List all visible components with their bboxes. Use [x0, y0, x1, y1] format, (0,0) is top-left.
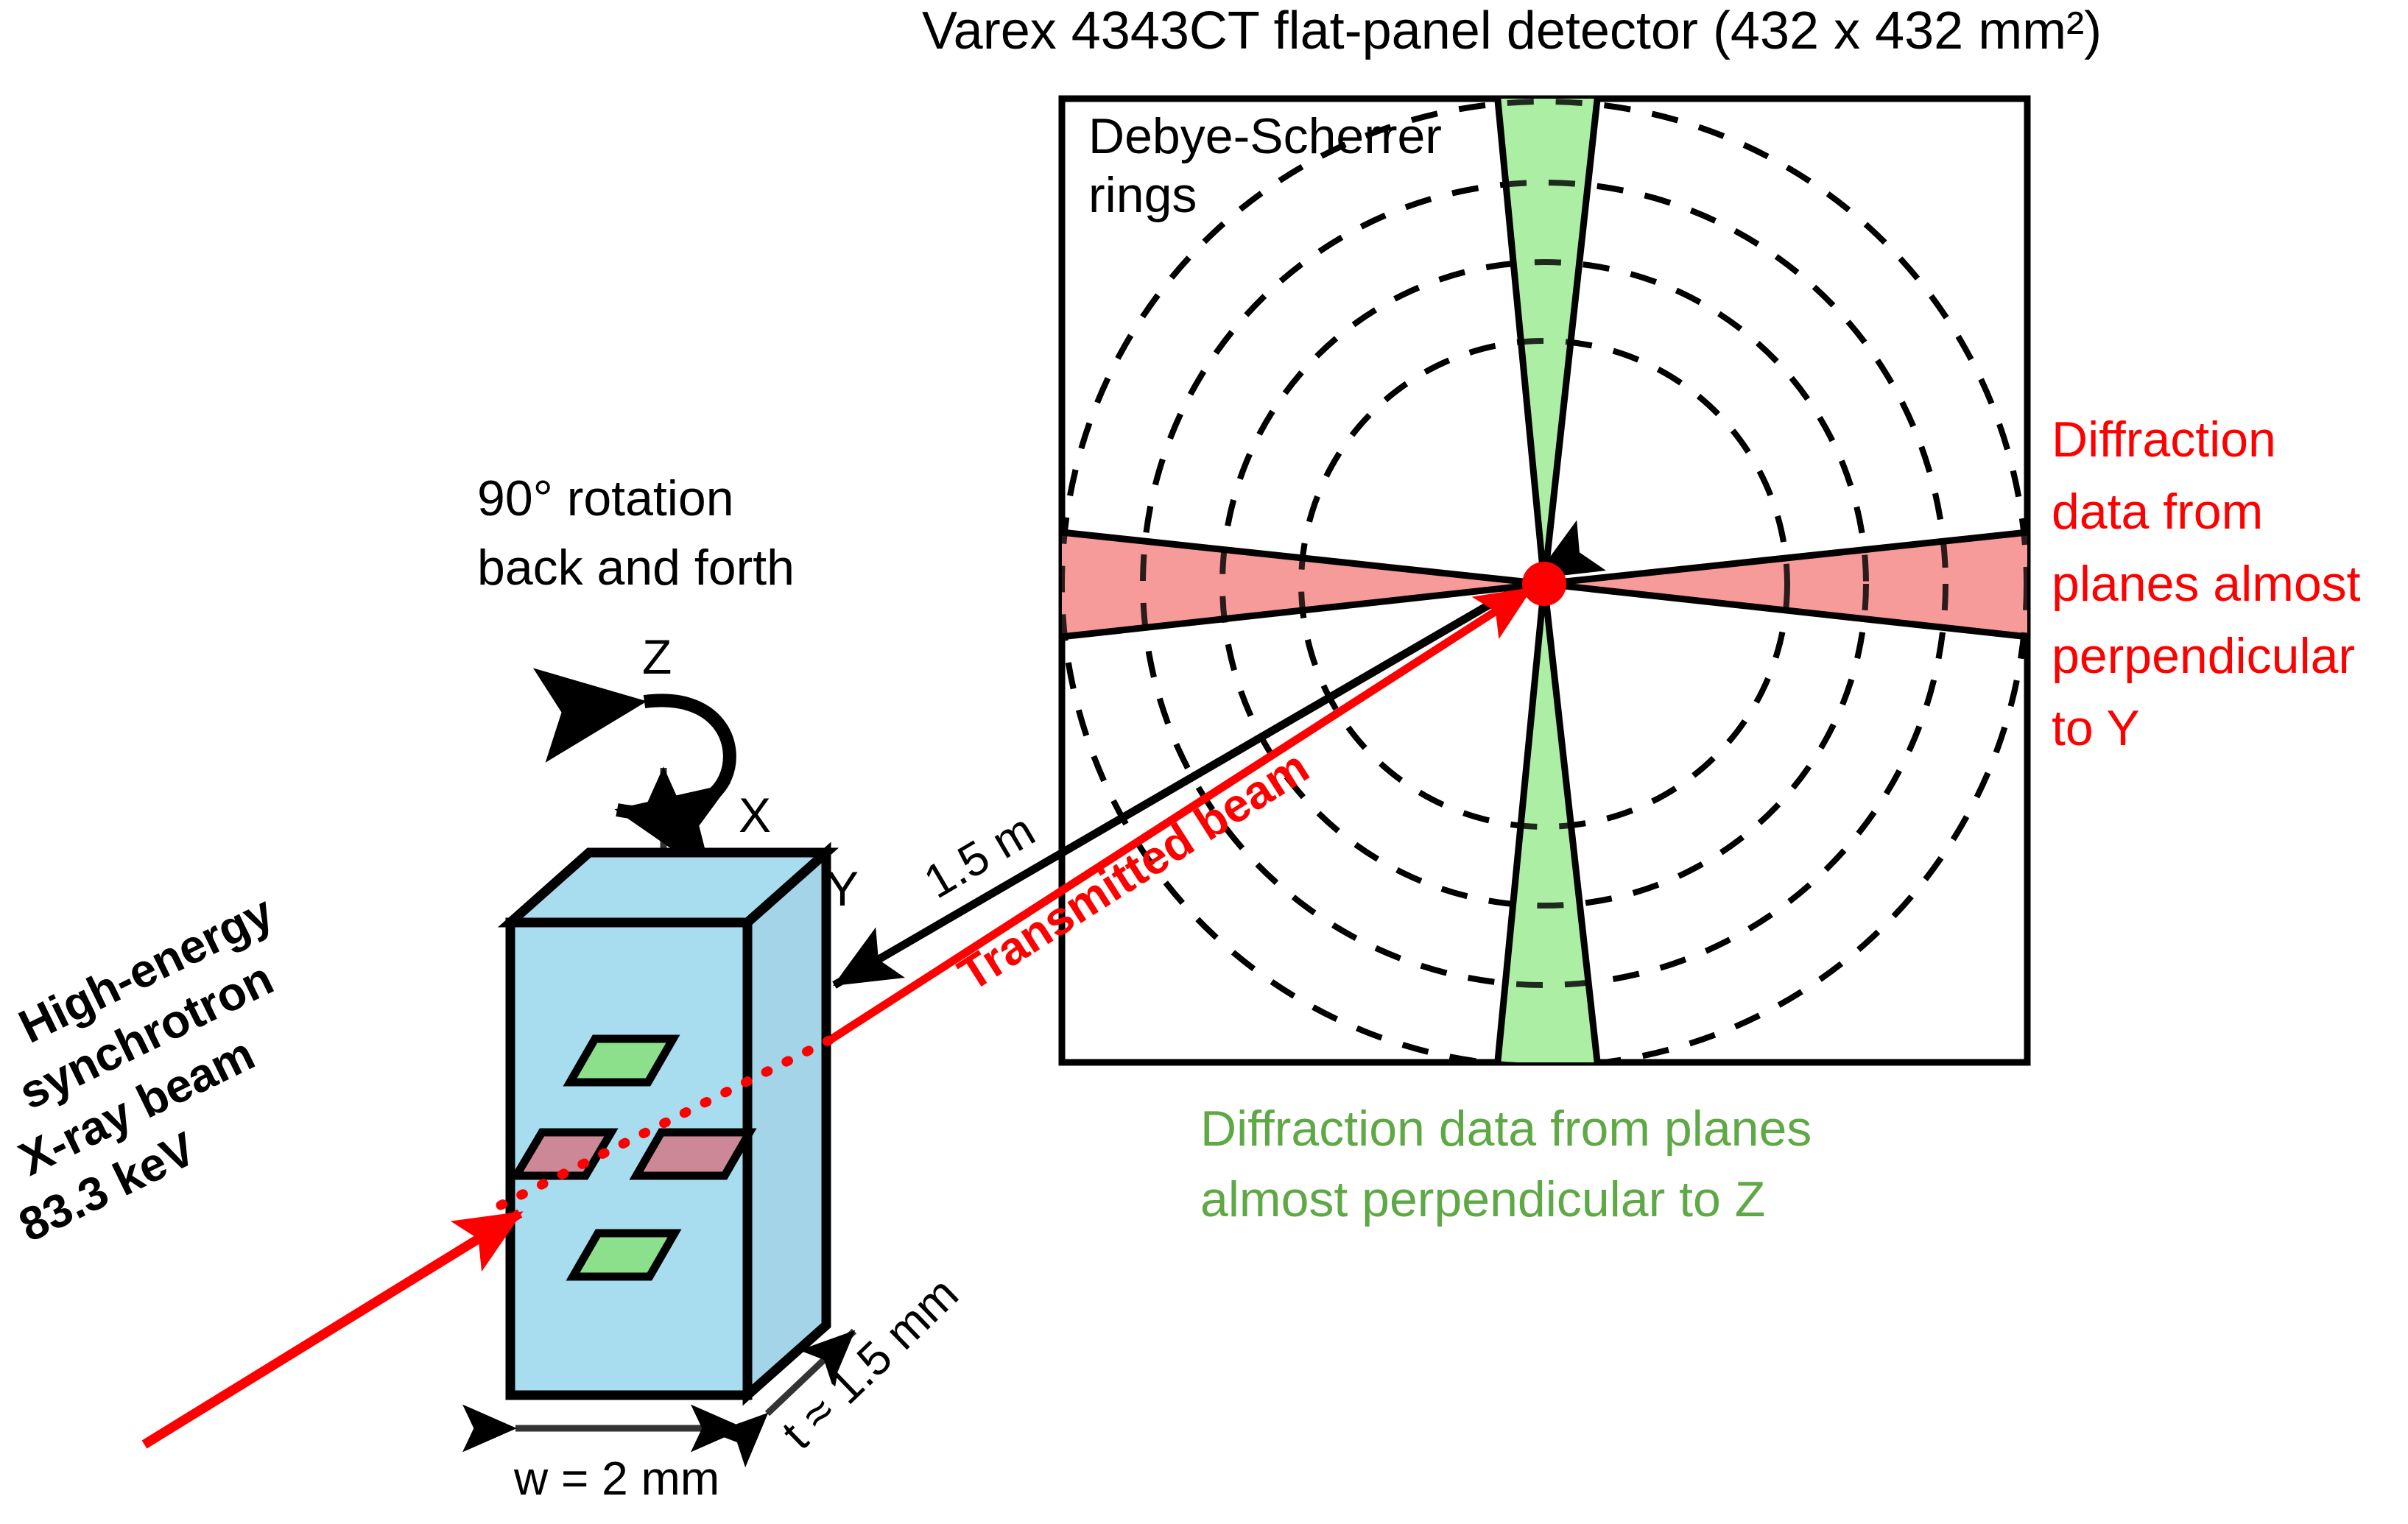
- z-axis-label: Z: [642, 629, 672, 684]
- width-label: w = 2 mm: [513, 1452, 719, 1505]
- green-note-line-2: almost perpendicular to Z: [1200, 1171, 1765, 1227]
- distance-label: 1.5 m: [915, 803, 1043, 909]
- rotation-arrow: [617, 700, 730, 813]
- diagram-canvas: Varex 4343CT flat-panel detector (432 x …: [0, 0, 2408, 1524]
- rose-plane-right: [636, 1132, 750, 1176]
- y-axis-label: Y: [826, 861, 859, 916]
- beam-source-label: High-energy synchrotron X-ray beam 83.3 …: [11, 885, 282, 1252]
- sample-block: [501, 853, 831, 1395]
- red-note-line-4: perpendicular: [2052, 628, 2355, 684]
- red-note-line-3: planes almost: [2052, 556, 2361, 612]
- beam-center-dot: [1522, 562, 1566, 606]
- green-note-line-1: Diffraction data from planes: [1200, 1101, 1812, 1157]
- x-axis-label: X: [739, 788, 771, 842]
- width-dimension: w = 2 mm: [513, 1428, 744, 1505]
- detector-title: Varex 4343CT flat-panel detector (432 x …: [922, 1, 2102, 60]
- rotation-label-line1: 90° rotation: [477, 470, 734, 526]
- red-annotation: Diffraction data from planes almost perp…: [2052, 412, 2361, 756]
- red-note-line-2: data from: [2052, 484, 2263, 540]
- green-annotation: Diffraction data from planes almost perp…: [1200, 1101, 1812, 1227]
- rings-label-line2: rings: [1088, 167, 1197, 223]
- sample-side-face: [747, 853, 826, 1395]
- incident-beam-arrow: [144, 1213, 520, 1444]
- red-note-line-1: Diffraction: [2052, 412, 2276, 468]
- rotation-label-line2: back and forth: [477, 540, 795, 596]
- rings-label-line1: Debye-Scherrer: [1088, 108, 1442, 164]
- red-note-line-5: to Y: [2052, 700, 2140, 756]
